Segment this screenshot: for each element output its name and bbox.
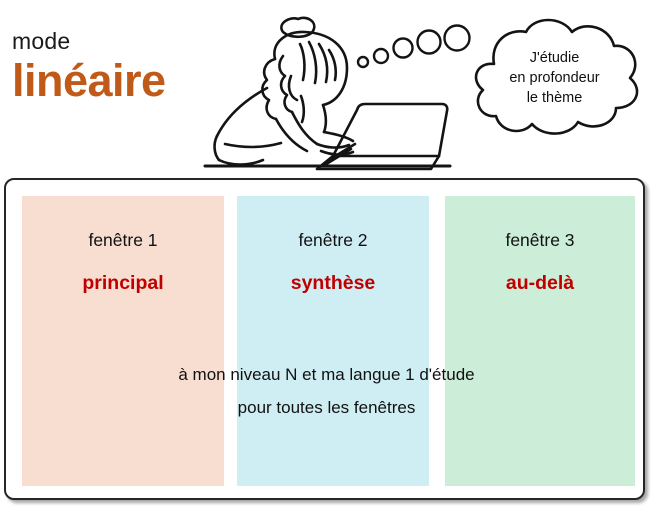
window-column-1[interactable]: fenêtre 1 principal [22,196,224,486]
windows-panel: fenêtre 1 principal fenêtre 2 synthèse f… [4,178,645,500]
header-area: mode linéaire [0,0,659,178]
window-3-label: fenêtre 3 [445,229,635,251]
window-column-2[interactable]: fenêtre 2 synthèse [237,196,429,486]
thought-bubble [452,6,657,146]
mode-value: linéaire [12,56,166,106]
window-column-3[interactable]: fenêtre 3 au-delà [445,196,635,486]
title-block: mode linéaire [12,28,166,106]
columns-container: fenêtre 1 principal fenêtre 2 synthèse f… [6,180,647,502]
thought-trail-icon [355,22,465,72]
window-2-title: synthèse [237,271,429,295]
window-3-title: au-delà [445,271,635,295]
window-2-label: fenêtre 2 [237,229,429,251]
window-1-title: principal [22,271,224,295]
window-1-label: fenêtre 1 [22,229,224,251]
mode-label: mode [12,28,166,54]
